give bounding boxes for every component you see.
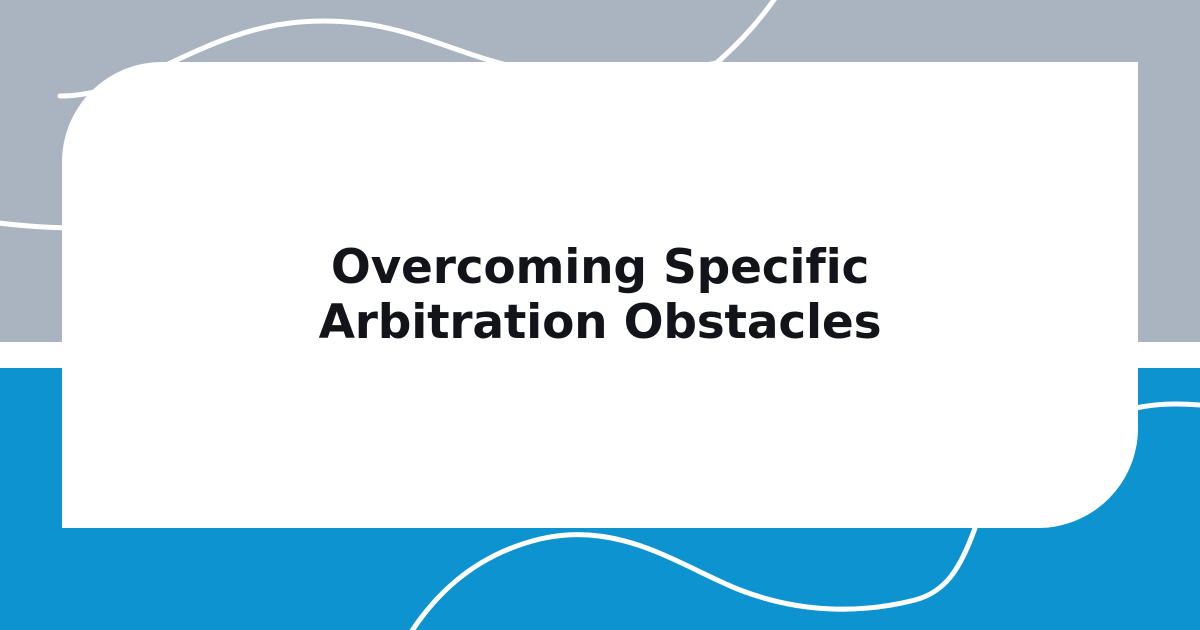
page-title: Overcoming Specific Arbitration Obstacle… bbox=[240, 240, 960, 350]
social-card-canvas: Overcoming Specific Arbitration Obstacle… bbox=[0, 0, 1200, 630]
content-card: Overcoming Specific Arbitration Obstacle… bbox=[62, 62, 1138, 528]
content-card-inner: Overcoming Specific Arbitration Obstacle… bbox=[220, 240, 980, 350]
